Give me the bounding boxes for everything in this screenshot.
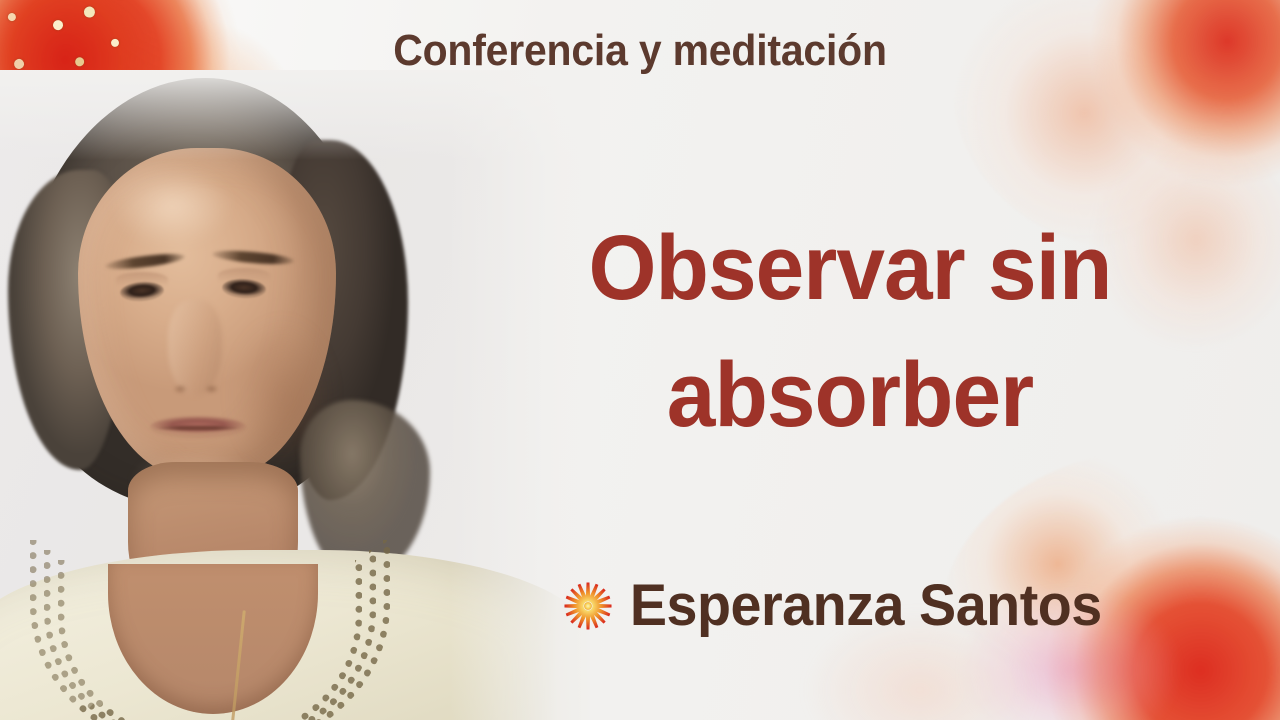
presentation-slide: Conferencia y meditación Observar sin ab…: [0, 0, 1280, 720]
speaker-name: Esperanza Santos: [630, 572, 1102, 639]
title-line-2: absorber: [489, 332, 1211, 459]
speaker-credit: Esperanza Santos: [560, 572, 1260, 639]
slide-header: Conferencia y meditación: [45, 26, 1235, 76]
slide-title: Observar sin absorber: [489, 205, 1211, 459]
title-line-1: Observar sin: [588, 217, 1111, 319]
sunburst-icon: [560, 578, 616, 634]
